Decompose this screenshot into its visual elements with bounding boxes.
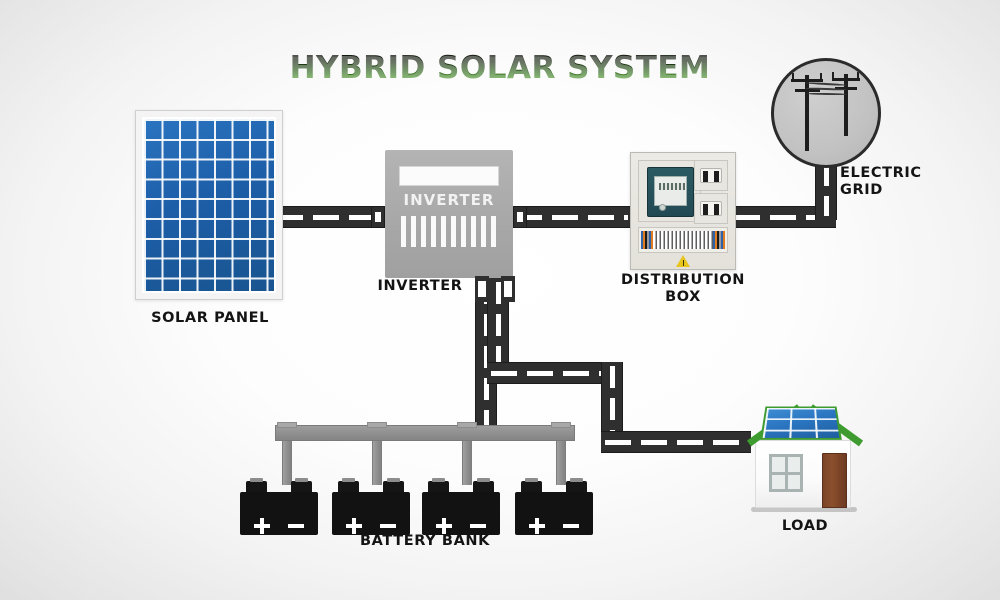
battery-minus-icon (380, 524, 396, 528)
power-line-upper (805, 82, 847, 86)
battery-body (240, 492, 318, 535)
battery-plus-icon (529, 518, 545, 534)
energy-meter (647, 167, 694, 217)
cable-load-drop (601, 362, 623, 442)
cable-inverter-to-distribution (512, 206, 632, 228)
battery-plus-icon (436, 518, 452, 534)
utility-pole-right-pin-b (857, 72, 859, 79)
utility-pole-left-mast (805, 75, 809, 151)
power-socket-icon (700, 168, 722, 183)
inverter-label: INVERTER (345, 278, 495, 295)
battery-drop-leg (372, 441, 382, 485)
power-line-lower (807, 93, 847, 96)
utility-pole-right-pin-a (832, 72, 834, 79)
energy-meter-indicator (659, 204, 666, 211)
cable-grid-drop (815, 160, 837, 220)
battery-minus-icon (563, 524, 579, 528)
utility-pole-right-mast (844, 74, 848, 136)
battery-bus-bar (275, 425, 575, 441)
inverter-vents (401, 216, 497, 247)
bus-bar-cap (277, 422, 297, 428)
house-door[interactable] (822, 453, 847, 508)
inverter-display (399, 166, 499, 186)
power-socket-icon (700, 201, 722, 216)
battery-body (422, 492, 500, 535)
diagram-canvas: HYBRID SOLAR SYSTEM SOLAR PANEL INVERTER… (0, 0, 1000, 600)
house-window (769, 454, 803, 492)
warning-exclamation-icon (683, 260, 685, 266)
bus-bar-cap (551, 422, 571, 428)
solar-panel-cell-grid (142, 117, 276, 293)
utility-pole-left-pin-a (792, 73, 794, 80)
electric-grid-label-line2: GRID (840, 182, 883, 198)
energy-meter-face (654, 176, 687, 206)
battery-bank-label: BATTERY BANK (285, 533, 565, 550)
battery-bank[interactable] (275, 425, 575, 535)
bus-bar-cap (457, 422, 477, 428)
solar-panel[interactable] (135, 110, 283, 300)
electric-grid-circle (771, 58, 881, 168)
distribution-box-label-line1: DISTRIBUTION (621, 272, 745, 288)
utility-pole-right-arm-upper (832, 78, 860, 81)
battery-plus-icon (254, 518, 270, 534)
battery-body (332, 492, 410, 535)
energy-meter-panel (638, 160, 701, 222)
battery-drop-leg (462, 441, 472, 485)
battery-minus-icon (470, 524, 486, 528)
load-label: LOAD (735, 518, 875, 535)
battery-body (515, 492, 593, 535)
inverter[interactable]: INVERTER (385, 150, 513, 278)
electric-grid-label: ELECTRICGRID (840, 165, 980, 199)
battery[interactable] (332, 481, 410, 535)
circuit-breakers (653, 231, 713, 249)
battery[interactable] (515, 481, 593, 535)
battery-minus-icon (288, 524, 304, 528)
bus-bar-cap (367, 422, 387, 428)
battery-drop-leg (556, 441, 566, 485)
breaker-panel (638, 227, 728, 253)
distribution-box-label-line2: BOX (665, 289, 701, 305)
electric-grid-label-line1: ELECTRIC (840, 165, 922, 181)
load-house[interactable] (745, 392, 863, 512)
battery[interactable] (422, 481, 500, 535)
battery[interactable] (240, 481, 318, 535)
battery-drop-leg (282, 441, 292, 485)
wire-bundle-left (641, 231, 653, 249)
inverter-body: INVERTER (385, 150, 513, 278)
distribution-box-body (630, 152, 736, 270)
utility-pole-left-pin-b (820, 73, 822, 80)
house-roof-solar-panel (760, 407, 842, 440)
battery-plus-icon (346, 518, 362, 534)
cable-to-house (601, 431, 751, 453)
solar-panel-label: SOLAR PANEL (115, 310, 305, 327)
socket-panel-top[interactable] (694, 160, 728, 191)
socket-panel-bottom[interactable] (694, 193, 728, 224)
distribution-box-label: DISTRIBUTIONBOX (608, 272, 758, 306)
inverter-foot-right (501, 276, 515, 302)
wire-bundle-right (713, 231, 725, 249)
electric-grid[interactable] (771, 58, 881, 168)
inverter-face-text: INVERTER (385, 191, 513, 209)
distribution-box[interactable] (630, 152, 736, 270)
inverter-port-left (371, 206, 385, 228)
inverter-port-right (513, 206, 527, 228)
